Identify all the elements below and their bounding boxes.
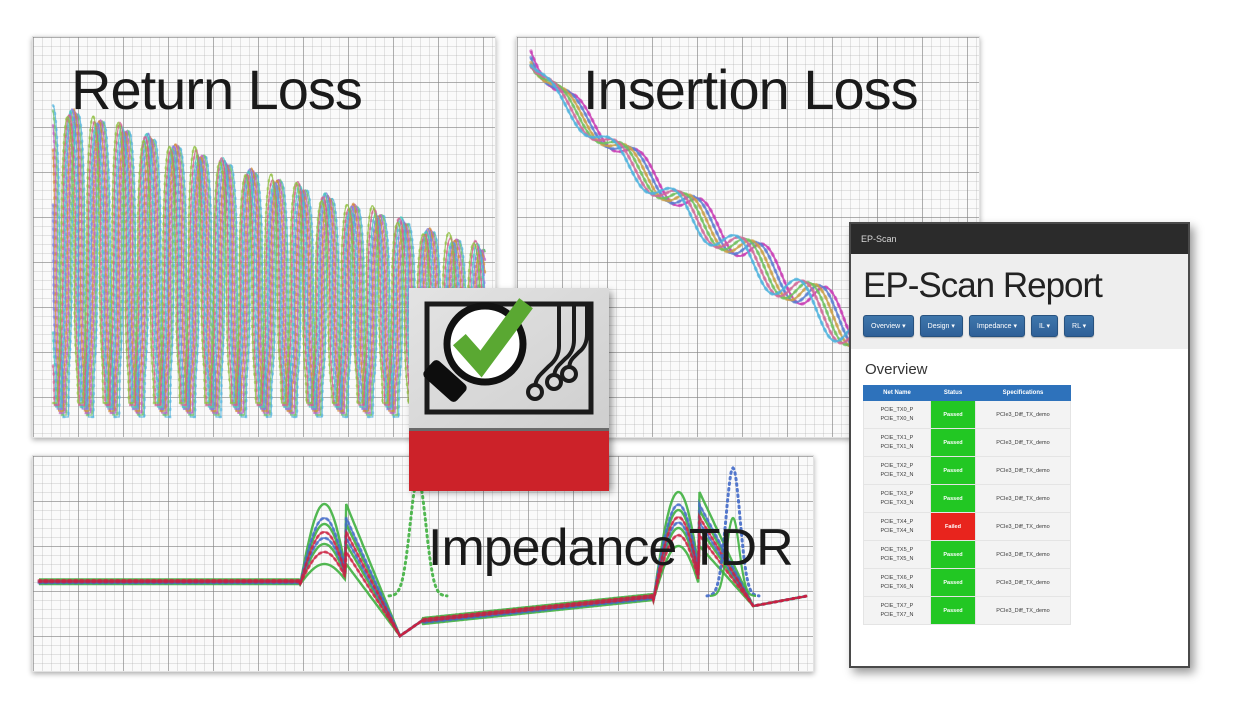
cell-net-name: PCIE_TX3_PPCIE_TX3_N: [864, 485, 931, 513]
table-header: Net Name Status Specifications: [864, 386, 1071, 401]
cell-specification: PCIe3_Diff_TX_demo: [976, 597, 1071, 625]
ep-scan-report-window[interactable]: EP-Scan EP-Scan Report Overview ▾ Design…: [849, 222, 1190, 668]
report-body: EP-Scan Report Overview ▾ Design ▾ Imped…: [851, 254, 1188, 666]
status-badge: Failed: [931, 513, 976, 541]
table-body: PCIE_TX0_PPCIE_TX0_NPassedPCIe3_Diff_TX_…: [864, 401, 1071, 625]
nav-button-design[interactable]: Design ▾: [920, 315, 963, 337]
chart-title-insertion-loss: Insertion Loss: [583, 57, 918, 122]
chart-title-return-loss: Return Loss: [71, 57, 362, 122]
window-title: EP-Scan: [861, 234, 897, 244]
nav-button-rl[interactable]: RL ▾: [1064, 315, 1094, 337]
report-page-title: EP-Scan Report: [863, 268, 1176, 303]
cell-specification: PCIe3_Diff_TX_demo: [976, 513, 1071, 541]
cell-net-name: PCIE_TX2_PPCIE_TX2_N: [864, 457, 931, 485]
report-header: EP-Scan Report Overview ▾ Design ▾ Imped…: [851, 254, 1188, 349]
table-row: PCIE_TX4_PPCIE_TX4_NFailedPCIe3_Diff_TX_…: [864, 513, 1071, 541]
table-row: PCIE_TX2_PPCIE_TX2_NPassedPCIe3_Diff_TX_…: [864, 457, 1071, 485]
cell-net-name: PCIE_TX1_PPCIE_TX1_N: [864, 429, 931, 457]
cell-specification: PCIe3_Diff_TX_demo: [976, 401, 1071, 429]
table-row: PCIE_TX1_PPCIE_TX1_NPassedPCIe3_Diff_TX_…: [864, 429, 1071, 457]
report-main: Overview Net Name Status Specifications …: [851, 349, 1188, 625]
cell-specification: PCIe3_Diff_TX_demo: [976, 429, 1071, 457]
cell-net-name: PCIE_TX5_PPCIE_TX5_N: [864, 541, 931, 569]
table-row: PCIE_TX3_PPCIE_TX3_NPassedPCIe3_Diff_TX_…: [864, 485, 1071, 513]
cell-specification: PCIe3_Diff_TX_demo: [976, 485, 1071, 513]
cell-net-name: PCIE_TX6_PPCIE_TX6_N: [864, 569, 931, 597]
logo-red-band: [409, 428, 609, 491]
overview-heading: Overview: [865, 361, 1176, 378]
status-badge: Passed: [931, 457, 976, 485]
screenshot-stage: Return Loss Insertion Loss Impedance TDR: [0, 0, 1244, 726]
cell-net-name: PCIE_TX7_PPCIE_TX7_N: [864, 597, 931, 625]
status-badge: Passed: [931, 485, 976, 513]
nav-button-impedance[interactable]: Impedance ▾: [969, 315, 1025, 337]
column-header-specifications: Specifications: [976, 386, 1071, 401]
nav-button-il[interactable]: IL ▾: [1031, 315, 1058, 337]
table-row: PCIE_TX7_PPCIE_TX7_NPassedPCIe3_Diff_TX_…: [864, 597, 1071, 625]
table-row: PCIE_TX5_PPCIE_TX5_NPassedPCIe3_Diff_TX_…: [864, 541, 1071, 569]
status-badge: Passed: [931, 569, 976, 597]
status-badge: Passed: [931, 597, 976, 625]
cell-specification: PCIe3_Diff_TX_demo: [976, 569, 1071, 597]
table-row: PCIE_TX0_PPCIE_TX0_NPassedPCIe3_Diff_TX_…: [864, 401, 1071, 429]
cell-specification: PCIe3_Diff_TX_demo: [976, 457, 1071, 485]
window-titlebar[interactable]: EP-Scan: [851, 224, 1188, 254]
overview-table: Net Name Status Specifications PCIE_TX0_…: [863, 385, 1071, 625]
status-badge: Passed: [931, 429, 976, 457]
ep-scan-logo: [409, 288, 609, 488]
cell-net-name: PCIE_TX4_PPCIE_TX4_N: [864, 513, 931, 541]
logo-artwork: [409, 288, 609, 428]
table-header-row: Net Name Status Specifications: [864, 386, 1071, 401]
cell-net-name: PCIE_TX0_PPCIE_TX0_N: [864, 401, 931, 429]
chart-title-impedance-tdr: Impedance TDR: [428, 518, 793, 578]
column-header-net-name: Net Name: [864, 386, 931, 401]
nav-button-overview[interactable]: Overview ▾: [863, 315, 914, 337]
status-badge: Passed: [931, 401, 976, 429]
pcb-trace-icon: [528, 306, 587, 399]
cell-specification: PCIe3_Diff_TX_demo: [976, 541, 1071, 569]
column-header-status: Status: [931, 386, 976, 401]
status-badge: Passed: [931, 541, 976, 569]
report-navbar: Overview ▾ Design ▾ Impedance ▾ IL ▾ RL …: [863, 315, 1176, 337]
table-row: PCIE_TX6_PPCIE_TX6_NPassedPCIe3_Diff_TX_…: [864, 569, 1071, 597]
